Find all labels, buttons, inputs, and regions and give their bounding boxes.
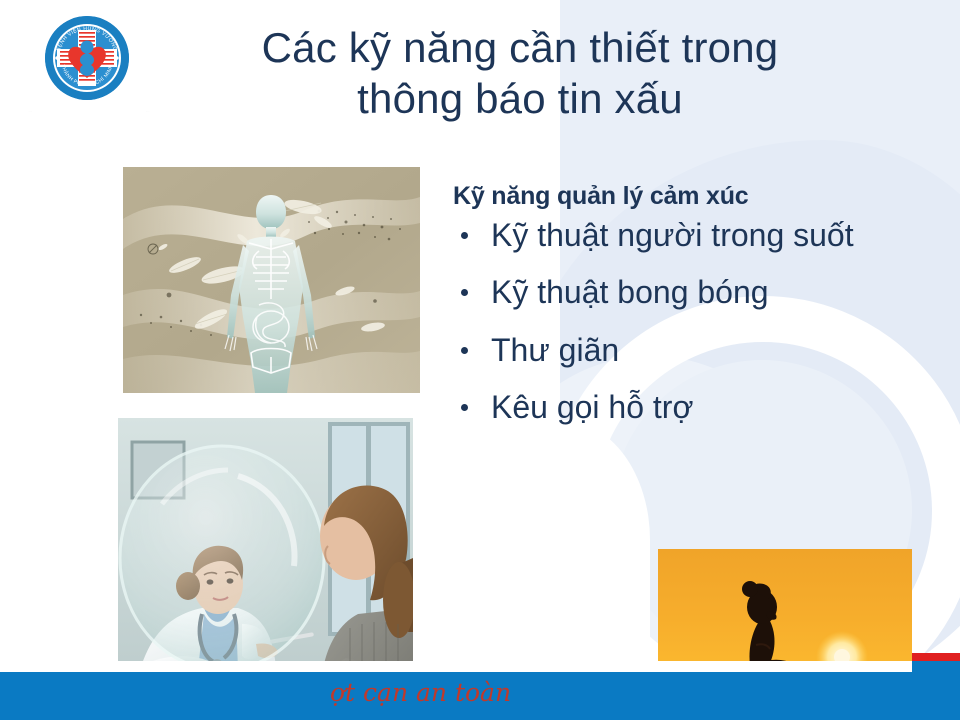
- slide-title-line2: thông báo tin xấu: [170, 73, 870, 124]
- bullet-dot-icon: [461, 289, 468, 296]
- slide-canvas: BỆNH VIỆN HÙNG VƯƠNG THÀNH PHỐ HỒ CHÍ MI…: [0, 0, 960, 720]
- bullet-dot-icon: [461, 232, 468, 239]
- list-item: Kêu gọi hỗ trợ: [447, 389, 947, 426]
- footer-red-accent: [912, 653, 960, 661]
- bullet-dot-icon: [461, 404, 468, 411]
- footer-bar-right-block: [912, 661, 960, 720]
- content-subheading: Kỹ năng quản lý cảm xúc: [453, 182, 947, 211]
- list-item-label: Kỹ thuật người trong suốt: [491, 217, 854, 253]
- list-item-label: Thư giãn: [491, 332, 619, 368]
- footer-slogan: ợt cạn an toàn: [330, 678, 660, 707]
- bullet-list: Kỹ thuật người trong suốt Kỹ thuật bong …: [447, 217, 947, 427]
- list-item: Kỹ thuật bong bóng: [447, 274, 947, 311]
- slide-title: Các kỹ năng cần thiết trong thông báo ti…: [170, 22, 870, 124]
- anatomy-transparent-person-image: [123, 167, 420, 393]
- slide-title-line1: Các kỹ năng cần thiết trong: [170, 22, 870, 73]
- content-block: Kỹ năng quản lý cảm xúc Kỹ thuật người t…: [447, 182, 947, 447]
- list-item-label: Kỹ thuật bong bóng: [491, 274, 769, 310]
- list-item: Thư giãn: [447, 332, 947, 369]
- list-item: Kỹ thuật người trong suốt: [447, 217, 947, 254]
- list-item-label: Kêu gọi hỗ trợ: [491, 389, 693, 425]
- bullet-dot-icon: [461, 347, 468, 354]
- hospital-logo-icon: BỆNH VIỆN HÙNG VƯƠNG THÀNH PHỐ HỒ CHÍ MI…: [45, 16, 129, 100]
